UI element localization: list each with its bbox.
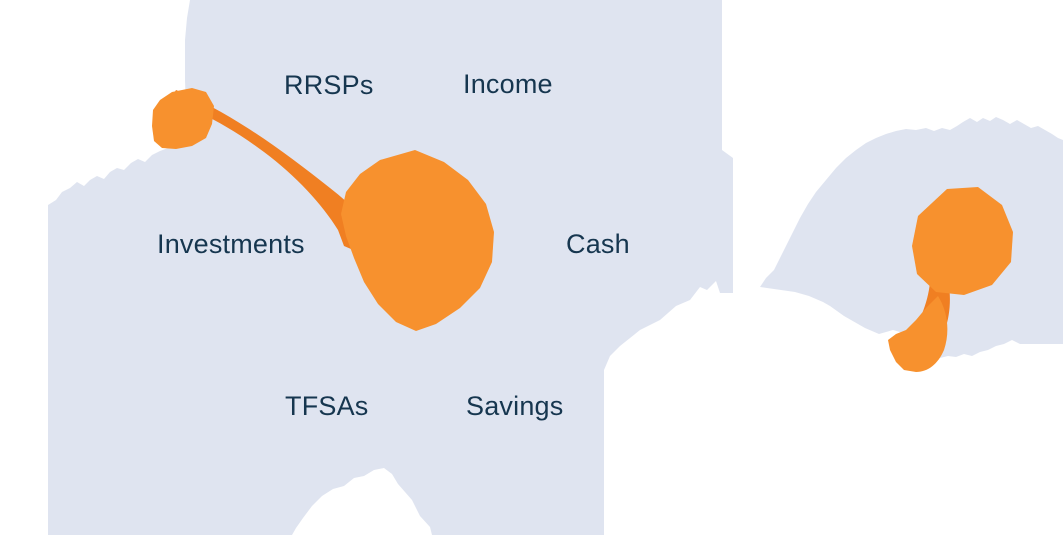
illustration-artwork — [0, 0, 1063, 535]
right-background-region — [760, 117, 1063, 358]
background-regions — [48, 0, 1063, 535]
illustration-canvas: RRSPs Income Investments Cash TFSAs Savi… — [0, 0, 1063, 535]
